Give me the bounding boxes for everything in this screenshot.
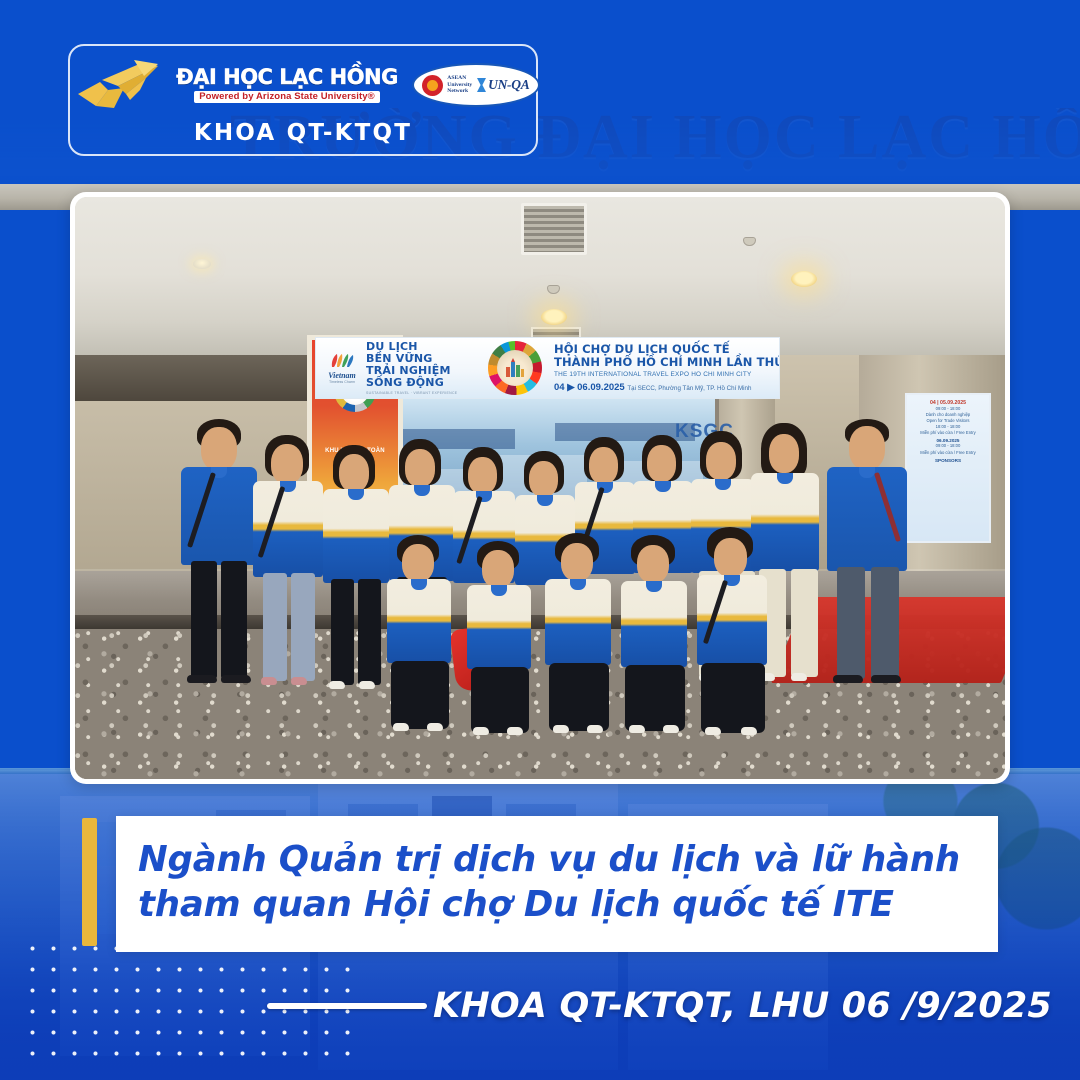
shoe xyxy=(393,723,409,731)
legs xyxy=(871,567,899,679)
head xyxy=(637,545,669,583)
shoe xyxy=(473,727,489,735)
head xyxy=(529,461,558,497)
shoe xyxy=(587,725,603,733)
shoe xyxy=(359,681,375,689)
head xyxy=(769,434,799,473)
head xyxy=(201,427,237,471)
university-wordmark: ĐẠI HỌC LẠC HỒNG Powered by Arizona Stat… xyxy=(176,67,398,104)
footer: KHOA QT-KTQT, LHU 06 /9/2025 xyxy=(0,978,1080,1034)
schedule-sponsors: SPONSORS xyxy=(911,458,985,463)
lotus-icon xyxy=(322,353,362,371)
legs xyxy=(837,567,865,679)
shoe xyxy=(629,725,645,733)
expo-title-line-2: THÀNH PHỐ HỒ CHÍ MINH LẦN THỨ 19 xyxy=(554,356,780,369)
legs xyxy=(625,665,685,731)
lotus-petals-icon xyxy=(327,353,357,368)
expo-slogan: DU LỊCH BỀN VỮNG TRẢI NGHIỆM SỐNG ĐỘNG S… xyxy=(362,341,482,395)
lac-hong-arrow-logo-icon xyxy=(74,56,162,114)
ceiling-vent-icon xyxy=(521,203,587,255)
legs xyxy=(358,579,381,685)
aun-qa-logo: ASEAN University Network UN-QA xyxy=(412,63,540,107)
legs xyxy=(263,573,287,681)
expo-title-english: THE 19TH INTERNATIONAL TRAVEL EXPO HO CH… xyxy=(554,371,780,378)
header-badge: ĐẠI HỌC LẠC HỒNG Powered by Arizona Stat… xyxy=(68,44,538,156)
faculty-name: KHOA QT-KTQT xyxy=(194,120,412,146)
slogan-sub: SUSTAINABLE TRAVEL · VIBRANT EXPERIENCE xyxy=(366,391,482,395)
legs xyxy=(191,561,217,679)
head xyxy=(482,550,514,588)
expo-title-block: HỘI CHỢ DU LỊCH QUỐC TẾ THÀNH PHỐ HỒ CHÍ… xyxy=(548,343,780,392)
head xyxy=(589,447,618,484)
legs xyxy=(221,561,247,679)
title-line-2: tham quan Hội chợ Du lịch quốc tế ITE xyxy=(138,882,978,927)
vietnam-tagline: Timeless Charm xyxy=(322,380,362,384)
shoe xyxy=(261,677,277,685)
shoe xyxy=(291,677,307,685)
poster-canvas: TRƯỜNG ĐẠI HỌC LẠC HỒNG xyxy=(0,0,1080,1080)
expo-dates-row: 04 ▶ 06.09.2025 Tại SECC, Phường Tân Mỹ,… xyxy=(554,382,780,393)
head xyxy=(402,544,434,582)
head xyxy=(271,444,303,484)
torso xyxy=(545,579,611,665)
shoe xyxy=(507,727,523,735)
legs xyxy=(391,661,449,729)
shoe xyxy=(741,727,757,735)
asean-network-label: ASEAN University Network xyxy=(447,75,472,95)
legs xyxy=(331,579,354,685)
vietnam-brand: Vietnam xyxy=(322,371,362,380)
city-skyline-icon xyxy=(503,355,527,379)
powered-by-label: Powered by Arizona State University® xyxy=(194,91,380,104)
legs xyxy=(791,569,818,677)
torso xyxy=(621,581,687,667)
shoe xyxy=(791,673,807,681)
slogan-line-4: SỐNG ĐỘNG xyxy=(366,377,482,389)
legs xyxy=(549,663,609,731)
asean-line-3: Network xyxy=(447,88,472,95)
torso xyxy=(827,467,907,571)
aun-qa-label: UN-QA xyxy=(476,77,529,93)
main-photo: KSGC KHU VỰC AN TOÀN KẾT NỐI xyxy=(75,197,1005,779)
torso xyxy=(467,585,531,669)
legs xyxy=(291,573,315,681)
shoe xyxy=(663,725,679,733)
shoe xyxy=(871,675,901,683)
head xyxy=(561,543,593,581)
sdg-wheel-icon xyxy=(488,341,542,395)
title-accent-bar xyxy=(82,818,97,946)
main-photo-frame: KSGC KHU VỰC AN TOÀN KẾT NỐI xyxy=(70,192,1010,784)
expo-dates: 04 ▶ 06.09.2025 xyxy=(554,382,625,393)
torso xyxy=(323,489,389,583)
aun-qa-text: UN-QA xyxy=(488,77,529,93)
torso xyxy=(697,575,767,665)
expo-banner: Vietnam Timeless Charm DU LỊCH BỀN VỮNG … xyxy=(315,337,780,399)
shoe xyxy=(553,725,569,733)
wall-header-band xyxy=(75,355,315,401)
header-logo-row: ĐẠI HỌC LẠC HỒNG Powered by Arizona Stat… xyxy=(70,54,536,116)
footer-credit: KHOA QT-KTQT, LHU 06 /9/2025 xyxy=(433,986,1052,1026)
title-card: Ngành Quản trị dịch vụ du lịch và lữ hàn… xyxy=(116,816,998,952)
shoe xyxy=(833,675,863,683)
legs xyxy=(471,667,529,733)
ceiling-downlight xyxy=(541,309,567,325)
head xyxy=(468,457,497,494)
head xyxy=(714,538,747,577)
shoe xyxy=(187,675,217,683)
university-name: ĐẠI HỌC LẠC HỒNG xyxy=(176,67,398,88)
footer-divider-line xyxy=(267,1003,427,1009)
title-line-1: Ngành Quản trị dịch vụ du lịch và lữ hàn… xyxy=(138,837,978,882)
shoe xyxy=(329,681,345,689)
legs xyxy=(701,663,765,733)
ceiling-downlight xyxy=(193,259,211,269)
asean-line-2: University xyxy=(447,82,472,89)
expo-venue: Tại SECC, Phường Tân Mỹ, TP. Hồ Chí Minh xyxy=(627,385,751,392)
schedule-footer-row: Miễn phí vào cửa / Free Entry xyxy=(911,450,985,456)
head xyxy=(405,449,435,487)
schedule-row: Miễn phí vào cửa / Free Entry xyxy=(911,430,985,436)
ceiling-downlight xyxy=(791,271,817,287)
shoe xyxy=(705,727,721,735)
torso xyxy=(181,467,257,565)
asean-line-1: ASEAN xyxy=(447,75,472,82)
torso xyxy=(387,579,451,663)
asean-seal-icon xyxy=(422,75,443,96)
schedule-board: 04 | 05.09.2025 09:00 - 18:00 Dành cho d… xyxy=(905,393,991,543)
head xyxy=(339,454,369,492)
head xyxy=(647,445,676,482)
torso xyxy=(751,473,819,571)
shoe xyxy=(221,675,251,683)
vietnam-tourism-logo: Vietnam Timeless Charm xyxy=(322,353,362,384)
torso xyxy=(253,481,323,577)
hourglass-icon xyxy=(476,77,487,93)
shoe xyxy=(427,723,443,731)
head xyxy=(849,426,885,470)
head xyxy=(706,442,736,480)
